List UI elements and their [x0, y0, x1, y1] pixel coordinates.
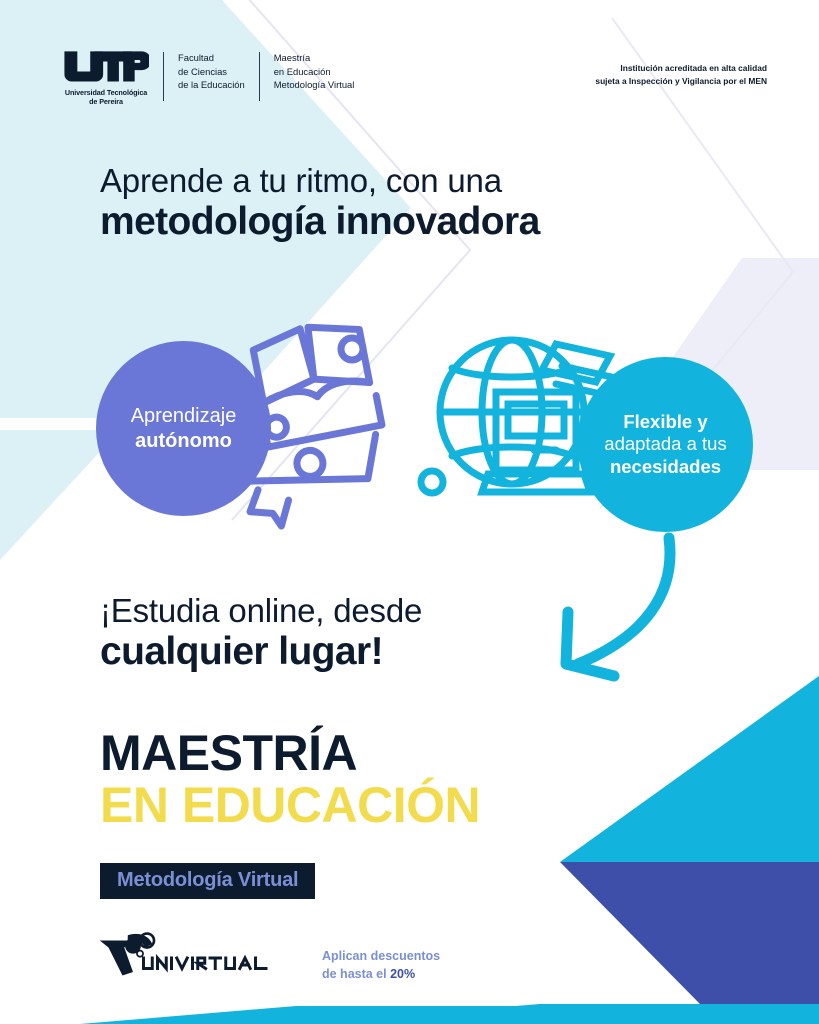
- cyan-triangle-bottom-right: [560, 676, 819, 862]
- headline-secondary-light: ¡Estudia online, desde: [100, 593, 422, 630]
- badge-flexible-line-1: Flexible y: [623, 411, 707, 434]
- faculty-line-1: Facultad: [178, 51, 245, 65]
- program-line-2: en Educación: [274, 65, 355, 79]
- faculty-line-3: de la Educación: [178, 78, 245, 92]
- discount-line-2: de hasta el 20%: [322, 966, 440, 984]
- header-divider-2: [259, 52, 260, 101]
- globe-accent-dot: [421, 471, 443, 493]
- univirtual-logo: [98, 930, 273, 981]
- discount-percentage: 20%: [390, 967, 415, 981]
- badge-autonomo-line-1: Aprendizaje: [131, 404, 237, 428]
- program-title-block: MAESTRÍA EN EDUCACIÓN: [100, 727, 480, 831]
- utp-monogram-logo: [63, 50, 149, 87]
- accreditation-line-2: sujeta a Inspección y Vigilancia por el …: [595, 75, 767, 88]
- badge-flexible-line-3: necesidades: [610, 456, 721, 479]
- faculty-line-2: de Ciencias: [178, 65, 245, 79]
- discount-note: Aplican descuentos de hasta el 20%: [322, 948, 440, 984]
- cyan-diagonal-band-bottom-2: [80, 1006, 819, 1024]
- accreditation-line-1: Institución acreditada en alta calidad: [595, 62, 767, 75]
- headline-primary: Aprende a tu ritmo, con una metodología …: [100, 163, 540, 244]
- headline-secondary-bold: cualquier lugar!: [100, 630, 422, 674]
- poster-header: Universidad Tecnológica de Pereira Facul…: [0, 50, 819, 112]
- accreditation-note: Institución acreditada en alta calidad s…: [595, 62, 767, 88]
- modality-badge: Metodología Virtual: [100, 863, 315, 899]
- badge-flexible-adaptada: Flexible y adaptada a tus necesidades: [578, 357, 753, 532]
- badge-flexible-line-2: adaptada a tus: [604, 433, 726, 456]
- curved-down-left-arrow-icon: [566, 538, 670, 676]
- program-line-1: Maestría: [274, 51, 355, 65]
- discount-line-1: Aplican descuentos: [322, 948, 440, 966]
- indigo-parallelogram-bottom-right: [560, 862, 819, 1004]
- headline-primary-bold: metodología innovadora: [100, 200, 540, 244]
- program-title-main: MAESTRÍA: [100, 727, 480, 779]
- utp-logo-group: Universidad Tecnológica de Pereira: [63, 50, 149, 107]
- headline-secondary: ¡Estudia online, desde cualquier lugar!: [100, 593, 422, 674]
- book-accent-dot: [341, 338, 363, 360]
- header-divider-1: [163, 52, 164, 101]
- utp-name-line-2: de Pereira: [63, 98, 149, 107]
- cyan-diagonal-band-bottom: [300, 1004, 819, 1024]
- program-title-accent: EN EDUCACIÓN: [100, 779, 480, 831]
- program-block: Maestría en Educación Metodología Virtua…: [274, 50, 355, 92]
- utp-university-name: Universidad Tecnológica de Pereira: [63, 89, 149, 106]
- modality-badge-label: Metodología Virtual: [117, 869, 298, 891]
- badge-aprendizaje-autonomo: Aprendizaje autónomo: [96, 341, 271, 516]
- program-line-3: Metodología Virtual: [274, 78, 355, 92]
- discount-line-2-prefix: de hasta el: [322, 967, 390, 981]
- headline-primary-light: Aprende a tu ritmo, con una: [100, 163, 540, 200]
- badge-autonomo-line-2: autónomo: [135, 429, 232, 453]
- brand-block: Universidad Tecnológica de Pereira Facul…: [63, 50, 354, 107]
- poster-canvas: Universidad Tecnológica de Pereira Facul…: [0, 0, 819, 1024]
- faculty-block: Facultad de Ciencias de la Educación: [178, 50, 245, 92]
